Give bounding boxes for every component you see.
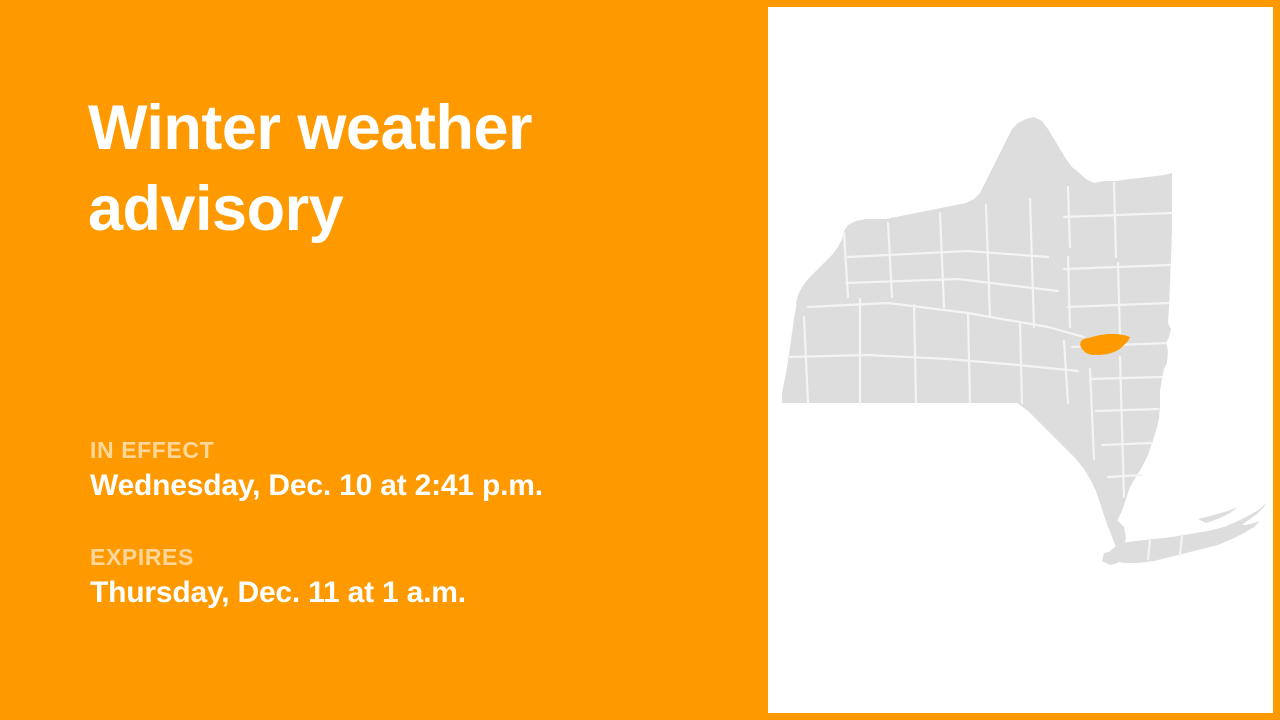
weather-alert-graphic: Winter weather advisory IN EFFECT Wednes… (0, 0, 1280, 720)
map-panel (768, 7, 1273, 713)
expires-value: Thursday, Dec. 11 at 1 a.m. (90, 575, 730, 610)
map-frame (768, 7, 1273, 713)
page-title: Winter weather advisory (88, 88, 708, 249)
timing-in-effect: IN EFFECT Wednesday, Dec. 10 at 2:41 p.m… (90, 437, 730, 504)
expires-label: EXPIRES (90, 544, 730, 570)
long-island-north-fork (1198, 507, 1238, 523)
in-effect-value: Wednesday, Dec. 10 at 2:41 p.m. (90, 468, 730, 503)
in-effect-label: IN EFFECT (90, 437, 730, 463)
new-york-state-map (768, 7, 1273, 713)
long-island-shape (1108, 503, 1266, 563)
map-land-group (768, 117, 1266, 565)
alert-info-panel: Winter weather advisory IN EFFECT Wednes… (0, 0, 768, 720)
alert-timing-block: IN EFFECT Wednesday, Dec. 10 at 2:41 p.m… (90, 437, 730, 611)
timing-expires: EXPIRES Thursday, Dec. 11 at 1 a.m. (90, 544, 730, 611)
lake-erie-shoreline (768, 297, 782, 347)
